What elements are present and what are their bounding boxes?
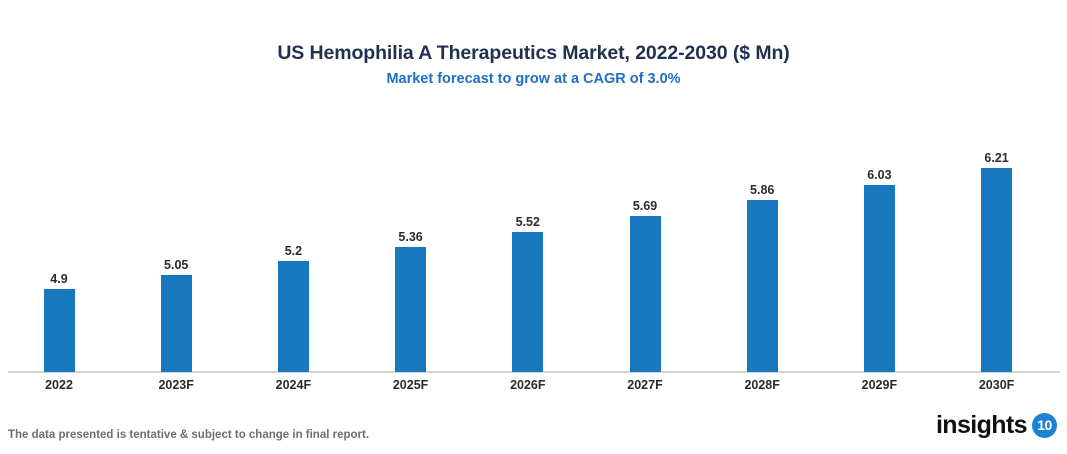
bar-value-label: 5.52 <box>488 215 568 229</box>
bar <box>630 216 661 372</box>
bar <box>864 185 895 372</box>
bar-value-label: 5.36 <box>371 230 451 244</box>
x-axis-category-label: 2023F <box>131 378 221 393</box>
x-axis-category-label: 2024F <box>248 378 338 393</box>
bar <box>44 289 75 372</box>
bar-value-label: 6.03 <box>839 168 919 182</box>
bar <box>981 168 1012 372</box>
plot-area: 4.95.055.25.365.525.695.866.036.21 20222… <box>0 0 1067 454</box>
bar <box>512 232 543 372</box>
bar-value-label: 5.86 <box>722 183 802 197</box>
x-axis-category-label: 2028F <box>717 378 807 393</box>
disclaimer-text: The data presented is tentative & subjec… <box>8 429 369 441</box>
x-axis-category-label: 2027F <box>600 378 690 393</box>
bar <box>161 275 192 372</box>
logo-wordmark: insights <box>936 412 1027 438</box>
bar-value-label: 5.05 <box>136 258 216 272</box>
bar <box>747 200 778 372</box>
x-axis-category-label: 2022 <box>14 378 104 393</box>
x-axis-category-label: 2029F <box>834 378 924 393</box>
logo-badge-icon: 10 <box>1032 413 1057 438</box>
x-axis-category-label: 2025F <box>366 378 456 393</box>
insights10-logo: insights 10 <box>936 410 1057 440</box>
bar-value-label: 4.9 <box>19 272 99 286</box>
bar-value-label: 5.69 <box>605 199 685 213</box>
bar-value-label: 5.2 <box>253 244 333 258</box>
chart-container: US Hemophilia A Therapeutics Market, 202… <box>0 0 1067 454</box>
bar <box>278 261 309 372</box>
x-axis-category-label: 2030F <box>952 378 1042 393</box>
bar <box>395 247 426 372</box>
x-axis-category-label: 2026F <box>483 378 573 393</box>
bar-value-label: 6.21 <box>957 151 1037 165</box>
